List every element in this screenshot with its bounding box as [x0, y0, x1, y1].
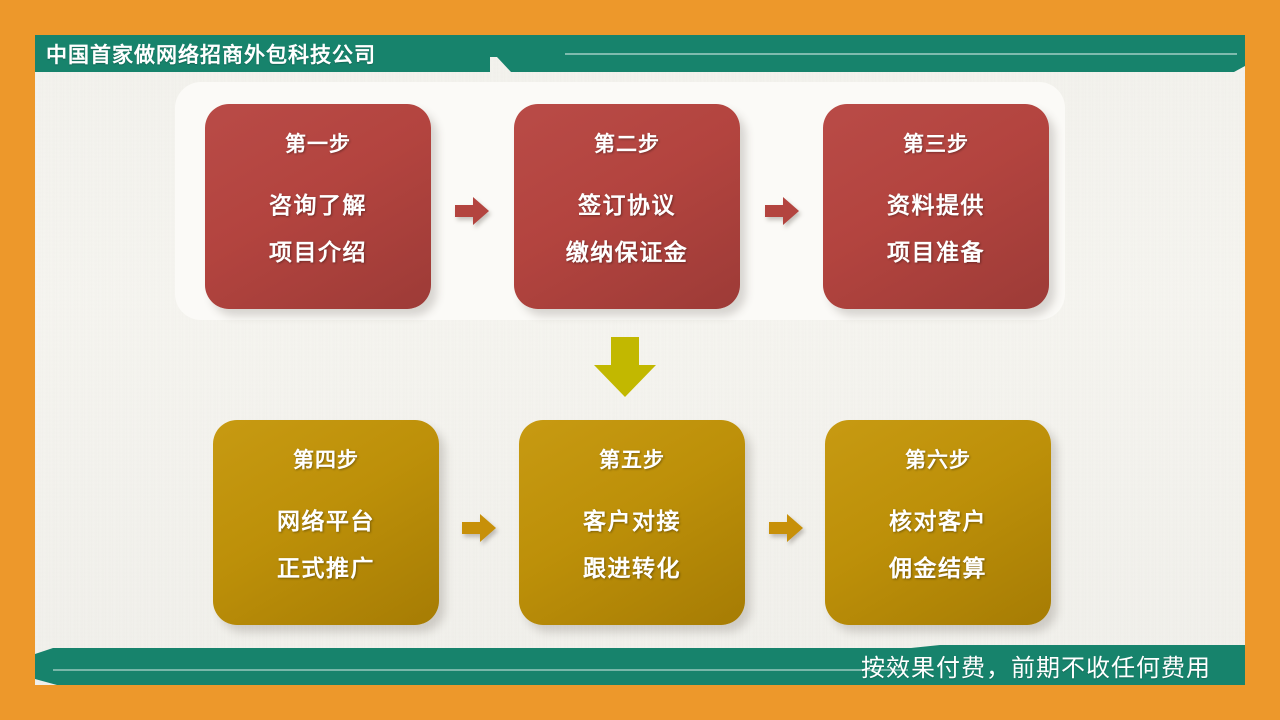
step-card-4-line-2: 正式推广 [277, 549, 375, 583]
step-card-1-title: 第一步 [285, 128, 351, 158]
step-card-6-title: 第六步 [905, 444, 971, 474]
step-card-2-title: 第二步 [594, 128, 660, 158]
arrow-down-icon [594, 337, 656, 397]
step-card-4-line-1: 网络平台 [277, 502, 375, 536]
step-card-4-body: 网络平台 正式推广 [277, 502, 375, 583]
step-card-4-title: 第四步 [293, 444, 359, 474]
step-card-2-line-1: 签订协议 [566, 186, 689, 220]
step-card-2[interactable]: 第二步 签订协议 缴纳保证金 [514, 104, 740, 309]
step-card-1-body: 咨询了解 项目介绍 [269, 186, 367, 267]
footer-note: 按效果付费，前期不收任何费用 [35, 645, 1245, 685]
step-card-6-line-1: 核对客户 [889, 502, 987, 536]
step-card-5-body: 客户对接 跟进转化 [583, 502, 681, 583]
step-card-3[interactable]: 第三步 资料提供 项目准备 [823, 104, 1049, 309]
step-card-3-line-2: 项目准备 [887, 233, 985, 267]
step-card-6[interactable]: 第六步 核对客户 佣金结算 [825, 420, 1051, 625]
arrow-right-icon [765, 196, 799, 226]
step-card-2-body: 签订协议 缴纳保证金 [566, 186, 689, 267]
arrow-right-icon [462, 513, 496, 543]
step-card-3-body: 资料提供 项目准备 [887, 186, 985, 267]
step-card-5-line-2: 跟进转化 [583, 549, 681, 583]
arrow-right-icon [455, 196, 489, 226]
step-card-1-line-1: 咨询了解 [269, 186, 367, 220]
step-card-3-line-1: 资料提供 [887, 186, 985, 220]
step-card-1-line-2: 项目介绍 [269, 233, 367, 267]
step-card-5-title: 第五步 [599, 444, 665, 474]
step-card-6-line-2: 佣金结算 [889, 549, 987, 583]
step-card-6-body: 核对客户 佣金结算 [889, 502, 987, 583]
step-card-2-line-2: 缴纳保证金 [566, 233, 689, 267]
slide-canvas: 中国首家做网络招商外包科技公司 第一步 咨询了解 项目介绍 第二步 签订协议 缴… [0, 0, 1280, 720]
step-card-5[interactable]: 第五步 客户对接 跟进转化 [519, 420, 745, 625]
arrow-right-icon [769, 513, 803, 543]
step-card-5-line-1: 客户对接 [583, 502, 681, 536]
step-card-3-title: 第三步 [903, 128, 969, 158]
page-title: 中国首家做网络招商外包科技公司 [46, 35, 376, 72]
step-card-4[interactable]: 第四步 网络平台 正式推广 [213, 420, 439, 625]
step-card-1[interactable]: 第一步 咨询了解 项目介绍 [205, 104, 431, 309]
